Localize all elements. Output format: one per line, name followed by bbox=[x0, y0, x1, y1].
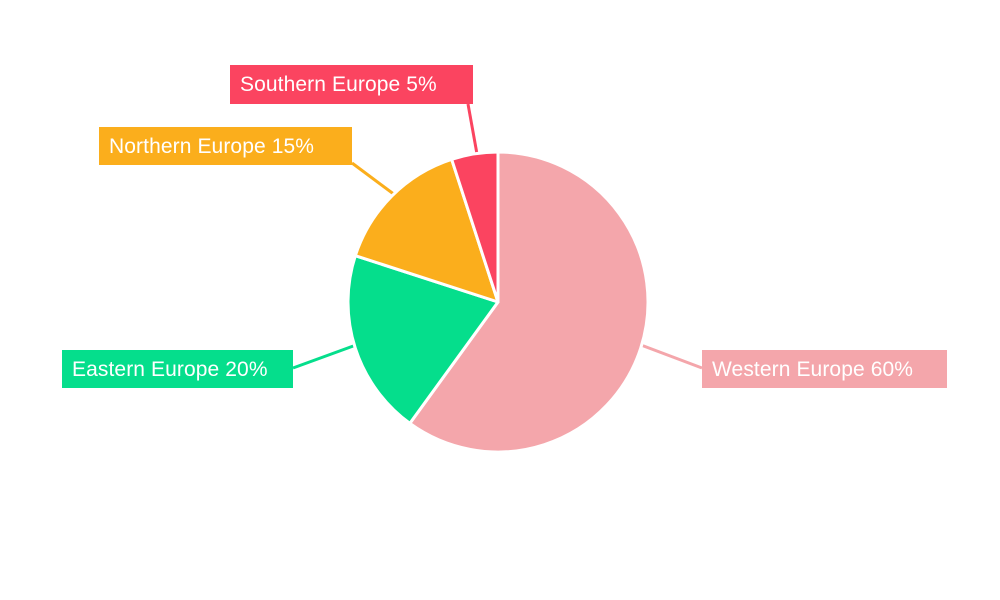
pie-slice-group bbox=[348, 152, 648, 452]
pie-label-eastern-europe: Eastern Europe 20% bbox=[62, 350, 293, 388]
leader-line-southern-europe bbox=[468, 104, 477, 154]
leader-line-western-europe bbox=[641, 345, 702, 368]
pie-label-northern-europe: Northern Europe 15% bbox=[99, 127, 352, 165]
pie-label-southern-europe: Southern Europe 5% bbox=[230, 65, 473, 104]
leader-line-northern-europe bbox=[352, 163, 399, 198]
pie-chart-figure: Western Europe 60%Eastern Europe 20%Nort… bbox=[0, 0, 1000, 600]
leader-line-eastern-europe bbox=[293, 345, 356, 368]
pie-chart-canvas bbox=[0, 0, 1000, 600]
pie-label-western-europe: Western Europe 60% bbox=[702, 350, 947, 388]
